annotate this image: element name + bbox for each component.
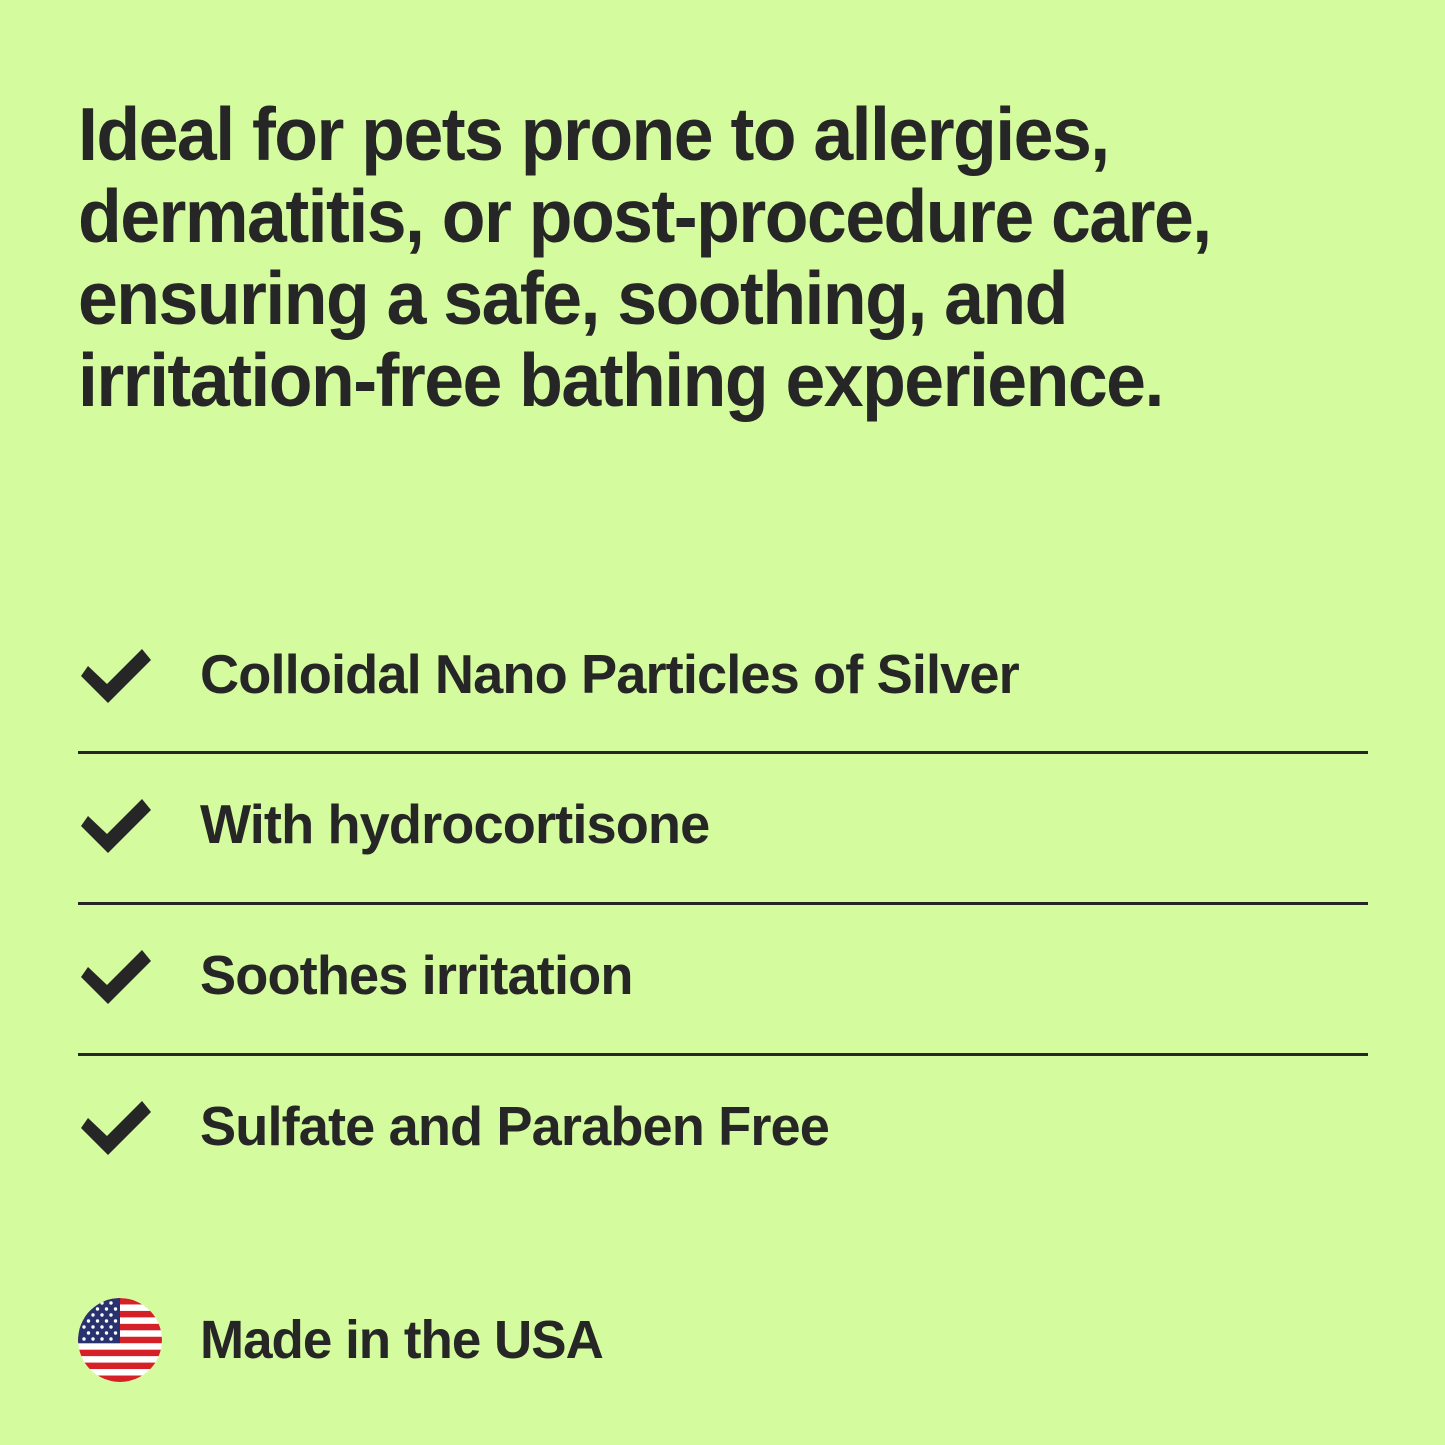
us-flag-icon <box>78 1298 162 1382</box>
check-icon <box>78 786 200 856</box>
list-item-label: With hydrocortisone <box>200 786 1350 858</box>
list-item-label: Soothes irritation <box>200 937 1350 1009</box>
list-item: With hydrocortisone <box>78 786 1368 937</box>
made-in-usa-label: Made in the USA <box>200 1310 603 1370</box>
check-icon <box>78 1088 200 1158</box>
divider <box>78 751 1368 754</box>
divider <box>78 902 1368 905</box>
list-item: Sulfate and Paraben Free <box>78 1088 1368 1239</box>
list-item: Soothes irritation <box>78 937 1368 1088</box>
made-in-usa-row: Made in the USA <box>78 1298 611 1382</box>
feature-list: Colloidal Nano Particles of Silver With … <box>78 636 1368 1239</box>
check-icon <box>78 636 200 706</box>
product-feature-card: Ideal for pets prone to allergies, derma… <box>0 0 1445 1445</box>
list-item-label: Colloidal Nano Particles of Silver <box>200 636 1350 708</box>
divider <box>78 1053 1368 1056</box>
list-item-label: Sulfate and Paraben Free <box>200 1088 1350 1160</box>
page-title: Ideal for pets prone to allergies, derma… <box>78 93 1348 421</box>
list-item: Colloidal Nano Particles of Silver <box>78 636 1368 786</box>
check-icon <box>78 937 200 1007</box>
